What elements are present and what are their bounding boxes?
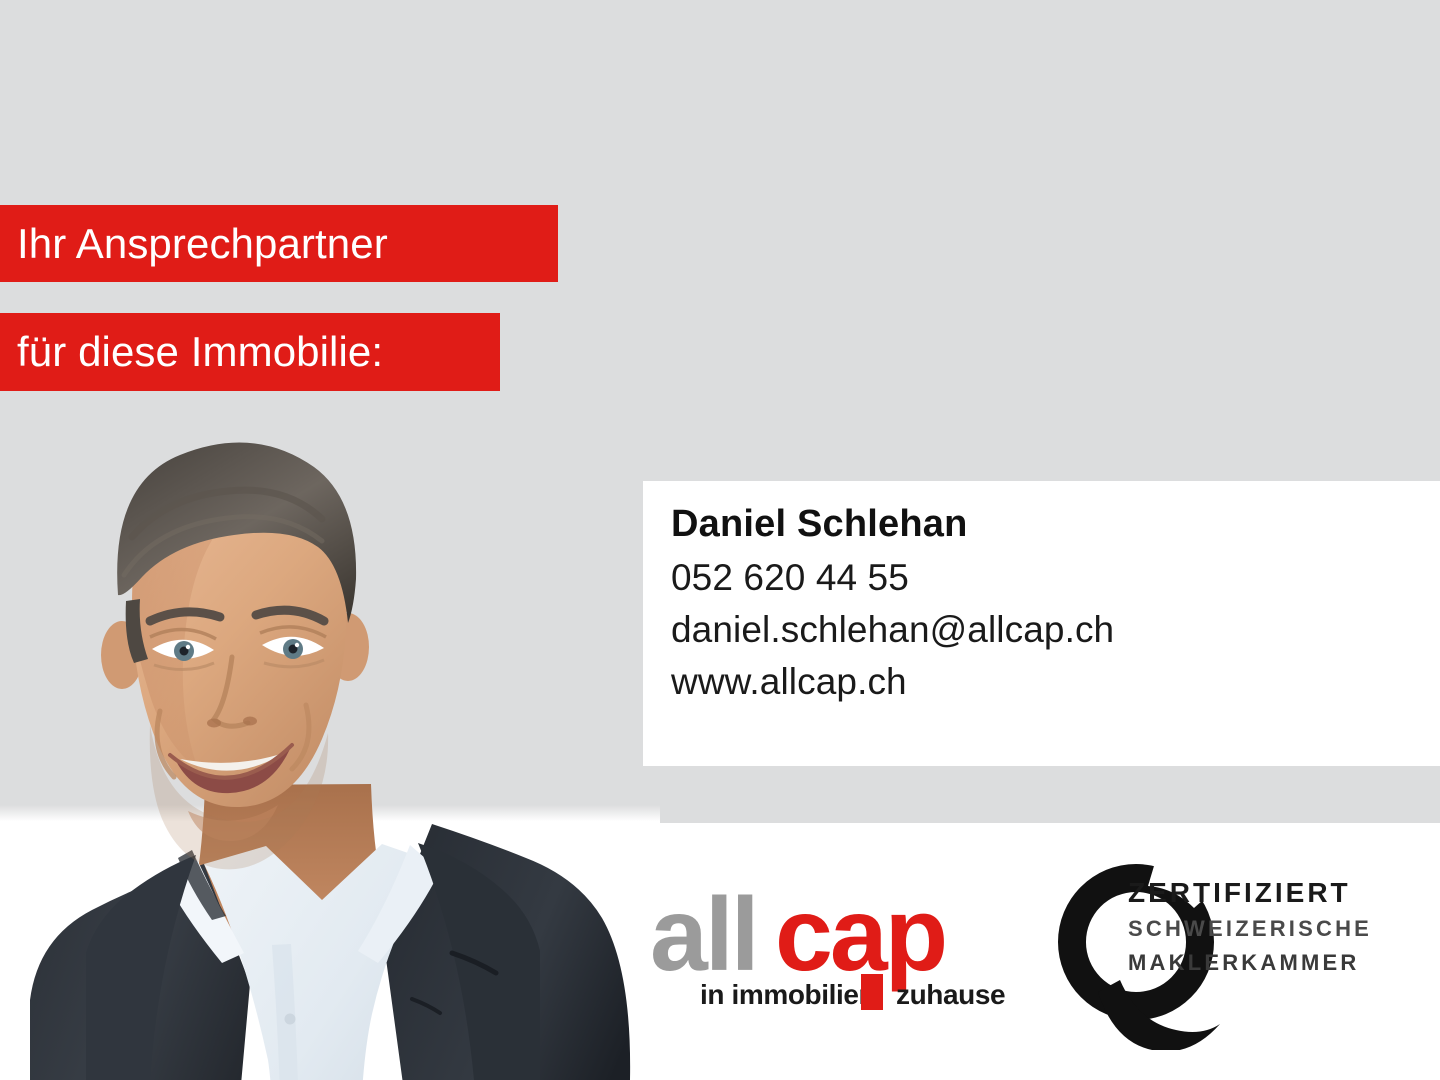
contact-phone[interactable]: 052 620 44 55	[671, 559, 1440, 596]
cert-line-3: MAKLERKAMMER	[1128, 950, 1360, 975]
headline-banner-line2: für diese Immobilie:	[0, 313, 500, 391]
headline-banner-line1: Ihr Ansprechpartner	[0, 205, 558, 282]
allcap-logo[interactable]: all cap in immobilien zuhause	[648, 888, 1020, 1010]
contact-website[interactable]: www.allcap.ch	[671, 663, 1440, 700]
allcap-p-descender	[861, 974, 883, 1010]
cert-line-2: SCHWEIZERISCHE	[1128, 916, 1372, 941]
allcap-wordmark-gray: all	[650, 888, 757, 993]
slide-canvas: Ihr Ansprechpartner für diese Immobilie:	[0, 0, 1440, 1080]
contact-card: Daniel Schlehan 052 620 44 55 daniel.sch…	[643, 481, 1440, 766]
allcap-tagline-left: in immobilien	[700, 979, 875, 1010]
contact-email[interactable]: daniel.schlehan@allcap.ch	[671, 611, 1440, 648]
certification-logo: ZERTIFIZIERT SCHWEIZERISCHE MAKLERKAMMER	[1058, 858, 1388, 1050]
portrait-photo	[0, 425, 660, 1080]
allcap-wordmark-red: cap	[775, 888, 945, 993]
allcap-tagline-right: zuhause	[896, 979, 1005, 1010]
contact-name: Daniel Schlehan	[671, 505, 1440, 543]
headline-text-line1: Ihr Ansprechpartner	[17, 220, 388, 268]
headline-text-line2: für diese Immobilie:	[17, 328, 383, 376]
cert-line-1: ZERTIFIZIERT	[1128, 877, 1351, 908]
